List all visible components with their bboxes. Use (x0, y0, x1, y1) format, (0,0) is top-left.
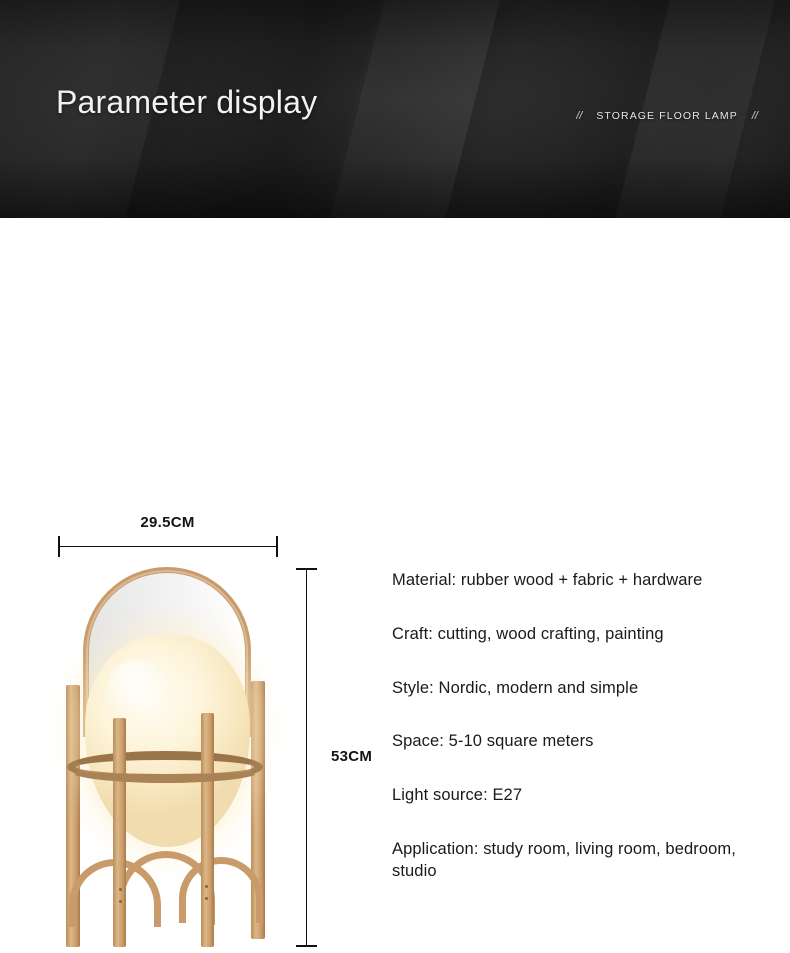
height-dimension-label: 53CM (331, 748, 372, 765)
spec-item-light-source: Light source: E27 (392, 785, 784, 807)
lamp-screw-icon (119, 900, 122, 903)
height-dimension-cap-top (296, 568, 317, 570)
height-dimension-cap-bottom (296, 945, 317, 947)
banner-tagline-text: STORAGE FLOOR LAMP (596, 110, 738, 122)
lamp-leg-front-left (113, 718, 126, 947)
spec-item-space: Space: 5-10 square meters (392, 731, 784, 753)
lamp-shade-highlight (107, 659, 169, 717)
lamp-screw-icon (119, 888, 122, 891)
width-dimension-cap-right (276, 536, 278, 557)
width-dimension-line (58, 546, 277, 547)
spec-item-craft: Craft: cutting, wood crafting, painting (392, 624, 784, 646)
slash-right-icon: // (752, 110, 758, 122)
spec-item-material: Material: rubber wood + fabric + hardwar… (392, 570, 784, 592)
lamp-leg-front-right (201, 713, 214, 947)
lamp-screw-icon (205, 885, 208, 888)
slash-left-icon: // (576, 110, 582, 122)
height-dimension-line (306, 568, 307, 946)
banner-tagline: // STORAGE FLOOR LAMP // (576, 110, 758, 122)
product-parameter-stage: 29.5CM 53CM Material: rubber wood + (0, 218, 790, 810)
lamp-band-ring-front (67, 757, 263, 783)
page-header-banner: Parameter display // STORAGE FLOOR LAMP … (0, 0, 790, 218)
lamp-screw-icon (205, 897, 208, 900)
page-title: Parameter display (56, 84, 317, 121)
width-dimension-label: 29.5CM (58, 514, 277, 531)
spec-item-application: Application: study room, living room, be… (392, 839, 784, 883)
specification-list: Material: rubber wood + fabric + hardwar… (392, 570, 784, 882)
width-dimension-cap-left (58, 536, 60, 557)
spec-item-style: Style: Nordic, modern and simple (392, 678, 784, 700)
product-image-floor-lamp (55, 563, 287, 953)
